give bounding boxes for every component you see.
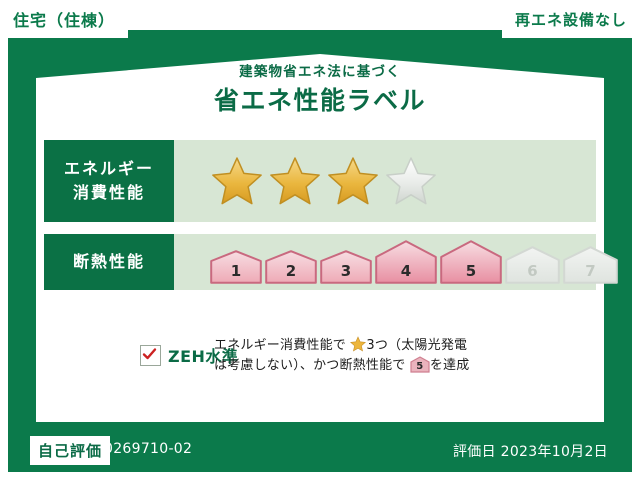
insulation-grade-number: 6 <box>505 264 560 278</box>
insulation-grade-badge: 1 <box>210 250 262 284</box>
page-title: 建築物省エネ法に基づく 省エネ性能ラベル <box>0 62 640 118</box>
zeh-section: ZEH水準 エネルギー消費性能で 3つ（太陽光発電 は考慮しない）、かつ断熱性能… <box>44 336 596 376</box>
metrics-section: エネルギー 消費性能 断熱性能 1234567 <box>44 140 596 302</box>
zeh-desc-stars: 3つ（太陽光発電 <box>366 338 467 353</box>
star-rating <box>210 154 438 208</box>
label-footer: 自己評価 0269710-02 評価日 2023年10月2日 <box>8 428 632 472</box>
zeh-desc-badge-number: 5 <box>410 362 430 372</box>
row-energy-consumption-head: エネルギー 消費性能 <box>44 140 174 222</box>
zeh-desc-part1: エネルギー消費性能で <box>214 338 346 353</box>
page-main-title: 省エネ性能ラベル <box>0 84 640 118</box>
zeh-desc-part2: は考慮しない）、かつ断熱性能で <box>214 358 406 373</box>
tab-renewable-status-label: 再エネ設備なし <box>515 9 627 30</box>
zeh-description-line1: エネルギー消費性能で 3つ（太陽光発電 <box>214 336 596 356</box>
insulation-grade-badge: 2 <box>265 250 317 284</box>
check-icon <box>142 347 157 362</box>
insulation-grade-badge: 7 <box>563 246 618 284</box>
star-icon <box>210 154 264 208</box>
star-icon <box>268 154 322 208</box>
star-icon <box>350 336 366 352</box>
row-energy-consumption: エネルギー 消費性能 <box>44 140 596 222</box>
house-badge-icon: 5 <box>410 356 430 373</box>
row-energy-consumption-label-line1: エネルギー <box>64 157 154 181</box>
insulation-grade-number: 2 <box>265 264 317 278</box>
insulation-grade-number: 7 <box>563 264 618 278</box>
page-subtitle: 建築物省エネ法に基づく <box>0 62 640 82</box>
evaluation-date: 評価日 2023年10月2日 <box>453 441 608 461</box>
zeh-checkbox[interactable] <box>140 345 161 366</box>
zeh-desc-part3: を達成 <box>430 358 470 373</box>
self-evaluation-badge: 自己評価 <box>30 436 110 465</box>
insulation-grade-number: 4 <box>375 264 437 278</box>
evaluation-id: 0269710-02 <box>104 441 192 457</box>
row-insulation-body: 1234567 <box>174 234 618 290</box>
energy-performance-label: 住宅（住棟） 再エネ設備なし 建築物省エネ法に基づく 省エネ性能ラベル エネルギ… <box>0 0 640 480</box>
insulation-grade-badge: 5 <box>440 240 502 284</box>
row-energy-consumption-body <box>174 140 596 222</box>
row-insulation-label: 断熱性能 <box>73 250 145 274</box>
insulation-grade-scale: 1234567 <box>210 240 618 284</box>
row-insulation-head: 断熱性能 <box>44 234 174 290</box>
insulation-grade-badge: 3 <box>320 250 372 284</box>
insulation-grade-badge: 4 <box>375 240 437 284</box>
zeh-description: エネルギー消費性能で 3つ（太陽光発電 は考慮しない）、かつ断熱性能で 5 を達… <box>214 336 596 376</box>
tab-building-type-label: 住宅（住棟） <box>13 7 115 31</box>
insulation-grade-number: 1 <box>210 264 262 278</box>
insulation-grade-number: 3 <box>320 264 372 278</box>
tab-renewable-status: 再エネ設備なし <box>502 0 640 38</box>
zeh-description-line2: は考慮しない）、かつ断熱性能で 5 を達成 <box>214 356 596 376</box>
row-insulation: 断熱性能 1234567 <box>44 234 596 290</box>
star-outline-icon <box>384 154 438 208</box>
row-energy-consumption-label-line2: 消費性能 <box>73 181 145 205</box>
zeh-標準-group: ZEH水準 <box>44 336 214 367</box>
insulation-grade-badge: 6 <box>505 246 560 284</box>
tab-building-type: 住宅（住棟） <box>0 0 128 38</box>
star-icon <box>326 154 380 208</box>
insulation-grade-number: 5 <box>440 264 502 278</box>
